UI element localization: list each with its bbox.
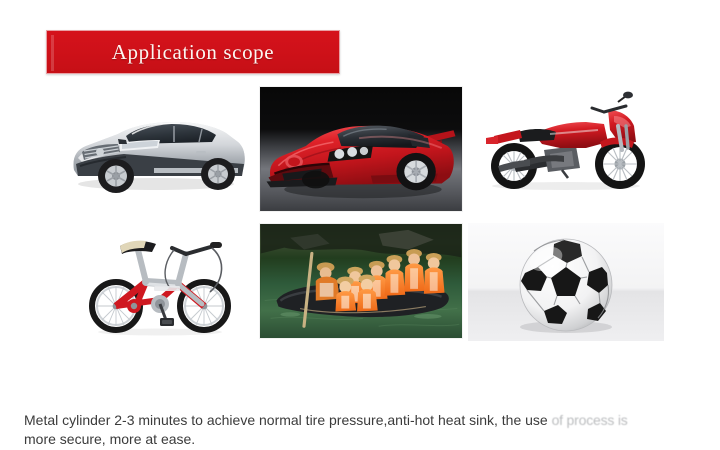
silver-car-icon — [56, 96, 252, 204]
caption-line-2: more secure, more at ease. — [24, 430, 710, 449]
gallery-image-red-sportscar — [259, 86, 463, 212]
red-sportscar-icon — [260, 87, 462, 211]
gallery-image-silver-car — [56, 96, 252, 204]
inflatable-boat-icon — [260, 224, 462, 338]
gallery-image-raft — [259, 223, 463, 339]
page-title: Application scope — [112, 40, 274, 65]
caption-line-1-faded: of process is — [552, 412, 628, 428]
caption-block: Metal cylinder 2-3 minutes to achieve no… — [24, 411, 710, 449]
gallery-image-motorcycle — [468, 86, 664, 198]
soccer-ball-icon — [468, 223, 664, 341]
bicycle-icon — [74, 228, 246, 342]
title-banner: Application scope — [46, 30, 340, 74]
application-scope-slide: Application scope — [0, 0, 720, 450]
caption-line-1: Metal cylinder 2-3 minutes to achieve no… — [24, 411, 710, 430]
gallery-image-soccerball — [468, 223, 664, 341]
caption-line-1-main: Metal cylinder 2-3 minutes to achieve no… — [24, 412, 552, 428]
gallery-image-bicycle — [74, 228, 246, 342]
motorcycle-icon — [468, 86, 664, 198]
